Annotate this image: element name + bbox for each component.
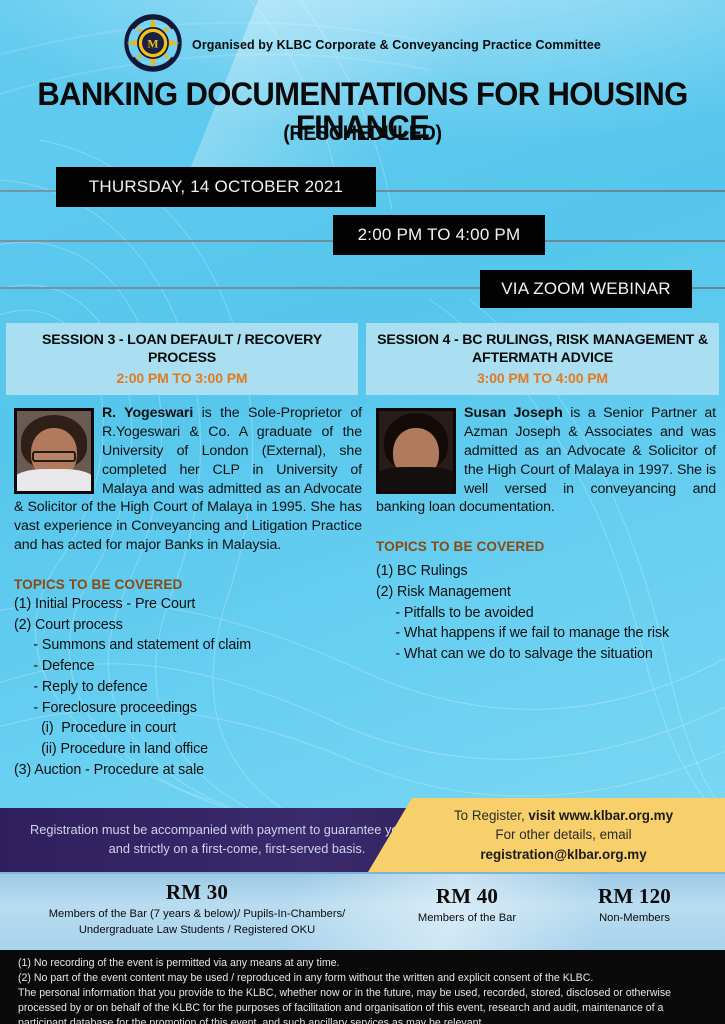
register-prefix: To Register, [454,808,528,823]
register-website-link[interactable]: visit www.klbar.org.my [528,808,673,823]
registration-cta-panel: To Register, visit www.klbar.org.my For … [368,798,725,872]
price-tier-1-amount: RM 30 [12,880,382,905]
price-tier-1-desc: Members of the Bar (7 years & below)/ Pu… [12,907,382,938]
price-tier-3-desc: Non-Members [552,911,717,927]
session-3-speaker-name: R. Yogeswari [102,405,193,421]
session-3-column: R. Yogeswari is the Sole-Proprietor of R… [14,404,362,780]
session-3-time: 2:00 PM TO 3:00 PM [117,370,248,386]
page-subtitle: (RESCHEDULED) [22,122,704,146]
session-4-column: Susan Joseph is a Senior Partner at Azma… [376,404,716,665]
event-time-badge: 2:00 PM TO 4:00 PM [333,215,545,255]
footer-line-1: (1) No recording of the event is permitt… [18,956,711,971]
other-details-label: For other details, email [495,827,631,842]
organiser-row: M Organised by KLBC Corporate & Conveyan… [0,18,725,72]
price-tier-3-amount: RM 120 [552,884,717,909]
session-4-time: 3:00 PM TO 4:00 PM [477,370,608,386]
session-3-topics-list: (1) Initial Process - Pre Court (2) Cour… [14,594,362,780]
session-4-title: SESSION 4 - BC RULINGS, RISK MANAGEMENT … [374,332,711,368]
klbc-emblem-icon: M [124,14,182,72]
event-platform-badge: VIA ZOOM WEBINAR [480,270,692,308]
session-header-4: SESSION 4 - BC RULINGS, RISK MANAGEMENT … [366,323,719,395]
registration-email-link[interactable]: registration@klbar.org.my [480,847,646,862]
speaker-photo-yogeswari [14,408,94,494]
speaker-photo-susan-joseph [376,408,456,494]
price-tier-3: RM 120 Non-Members [552,884,717,927]
svg-text:M: M [148,38,159,51]
session-4-topics-heading: TOPICS TO BE COVERED [376,539,716,554]
session-header-3: SESSION 3 - LOAN DEFAULT / RECOVERY PROC… [6,323,358,395]
session-3-topics-heading: TOPICS TO BE COVERED [14,577,362,592]
price-tier-2-amount: RM 40 [382,884,552,909]
event-date-badge: THURSDAY, 14 OCTOBER 2021 [56,167,376,207]
registration-band: Registration must be accompanied with pa… [0,800,725,872]
event-poster: M Organised by KLBC Corporate & Conveyan… [0,0,725,1024]
price-tier-2: RM 40 Members of the Bar [382,884,552,927]
session-4-speaker-name: Susan Joseph [464,405,563,421]
footer-line-3: The personal information that you provid… [18,986,711,1024]
price-tier-1: RM 30 Members of the Bar (7 years & belo… [12,880,382,938]
price-tier-2-desc: Members of the Bar [382,911,552,927]
pricing-band: RM 30 Members of the Bar (7 years & belo… [0,872,725,950]
session-3-title: SESSION 3 - LOAN DEFAULT / RECOVERY PROC… [14,332,350,368]
session-4-topics-list: (1) BC Rulings (2) Risk Management - Pit… [376,561,716,665]
footer-disclaimer: (1) No recording of the event is permitt… [0,950,725,1024]
organiser-text: Organised by KLBC Corporate & Conveyanci… [192,38,601,52]
footer-line-2: (2) No part of the event content may be … [18,971,711,986]
